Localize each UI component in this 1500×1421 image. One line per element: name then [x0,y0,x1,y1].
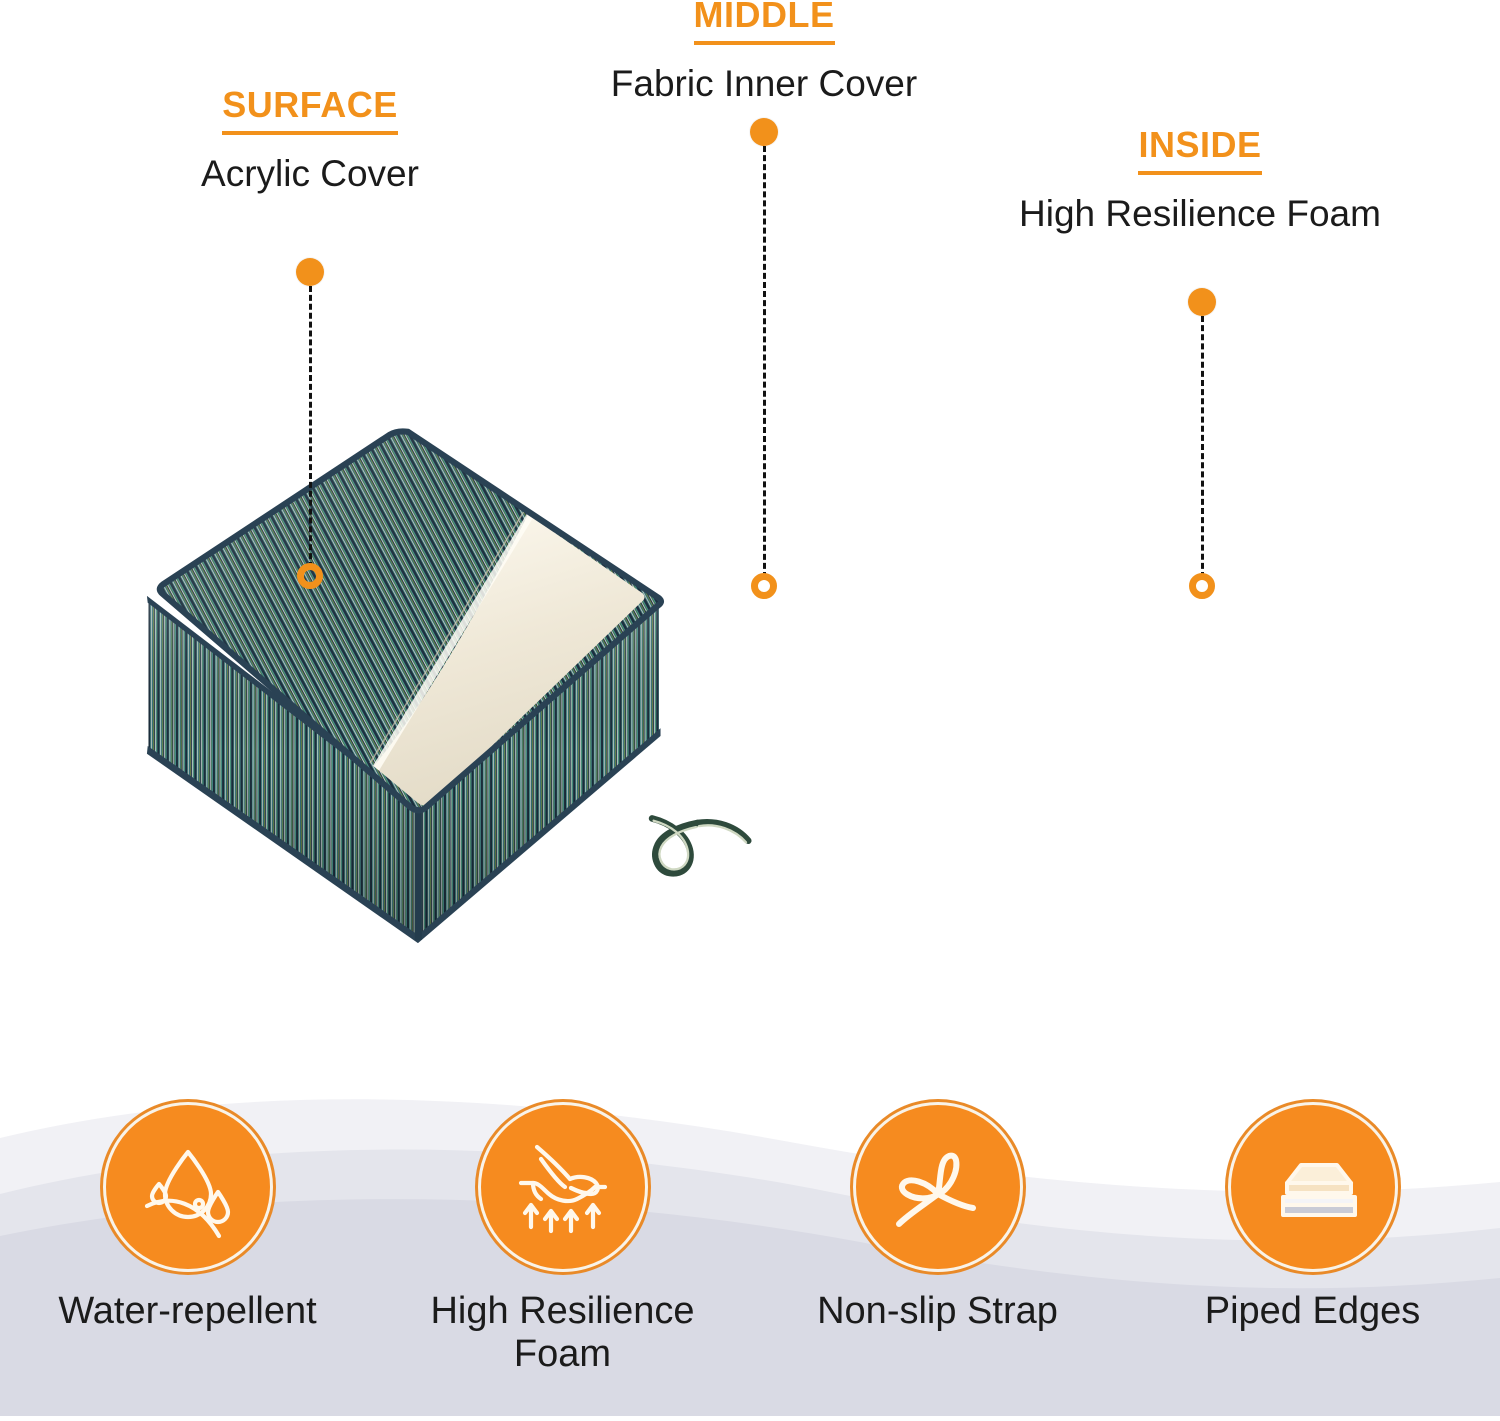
dot-marker-icon [1188,288,1216,316]
feature-label: Non-slip Strap [817,1290,1058,1333]
leader-line [1201,316,1204,578]
feature-label: High Resilience Foam [398,1290,728,1376]
hand-on-foam-icon [478,1102,648,1272]
callout-desc-middle: Fabric Inner Cover [562,63,966,106]
water-droplet-icon [103,1102,273,1272]
callout-surface: SURFACE Acrylic Cover [110,86,510,195]
feature-row: Water-repellent [0,1086,1500,1416]
ribbon-bow-icon [853,1102,1023,1272]
feature-label: Piped Edges [1205,1290,1421,1333]
callout-kicker-middle: MIDDLE [694,0,835,45]
callout-desc-inside: High Resilience Foam [985,193,1415,236]
feature-label: Water-repellent [58,1290,316,1333]
callout-middle: MIDDLE Fabric Inner Cover [562,0,966,105]
callout-kicker-surface: SURFACE [222,86,398,135]
leader-line [309,286,312,568]
feature-piped-edges[interactable]: Piped Edges [1125,1102,1500,1333]
layered-cushion-icon [1228,1102,1398,1272]
dot-marker-icon [750,118,778,146]
callout-desc-surface: Acrylic Cover [110,153,510,196]
product-illustration [140,418,1500,988]
feature-water-repellent[interactable]: Water-repellent [0,1102,375,1333]
ring-marker-icon [751,573,777,599]
ring-marker-icon [1189,573,1215,599]
callout-kicker-inside: INSIDE [1138,126,1261,175]
tie-strap-icon [652,818,748,873]
ring-marker-icon [297,563,323,589]
leader-line [763,146,766,578]
feature-non-slip-strap[interactable]: Non-slip Strap [750,1102,1125,1333]
infographic-canvas: SURFACE Acrylic Cover MIDDLE Fabric Inne… [0,0,1500,1416]
callout-inside: INSIDE High Resilience Foam [985,126,1415,235]
feature-high-resilience-foam[interactable]: High Resilience Foam [375,1102,750,1376]
dot-marker-icon [296,258,324,286]
